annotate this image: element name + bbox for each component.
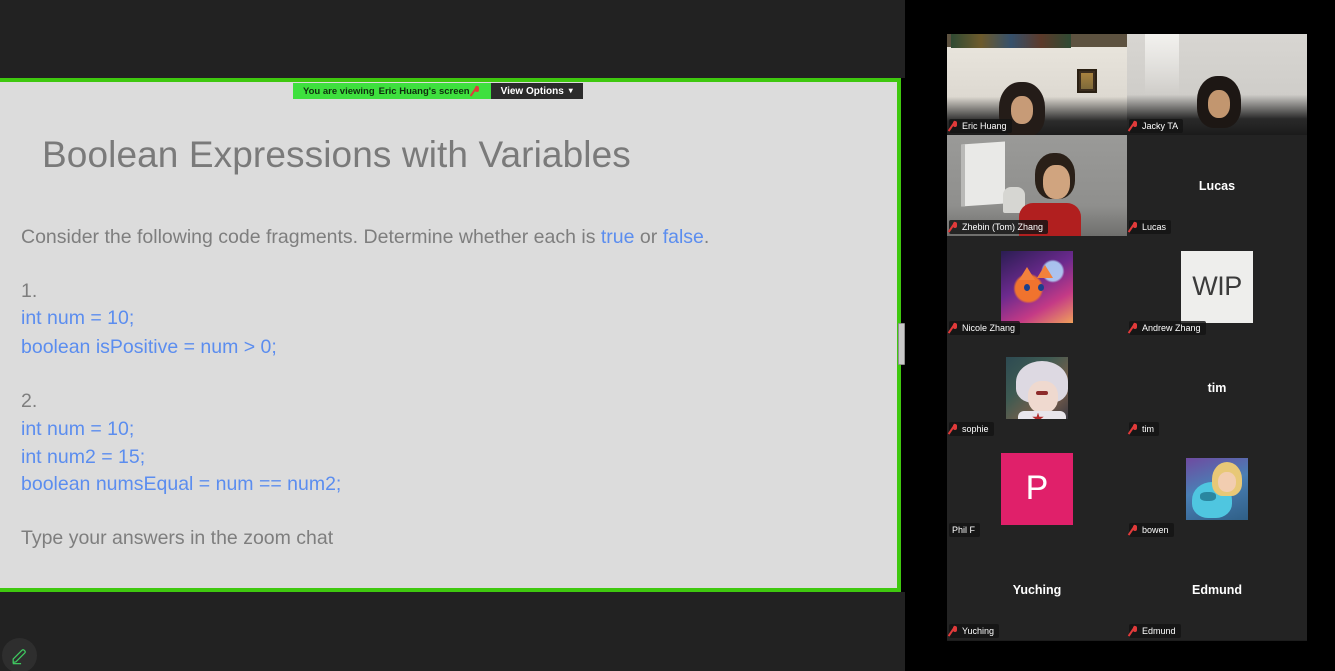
participant-name-badge: sophie xyxy=(949,422,994,436)
anime-avatar-image xyxy=(1006,357,1068,419)
shared-screen-region: Boolean Expressions with Variables Consi… xyxy=(0,0,905,671)
participant-tile[interactable]: PPhil F xyxy=(947,438,1127,539)
participants-gallery: Eric HuangJacky TAZhebin (Tom) ZhangLuca… xyxy=(947,34,1307,641)
slide-false-keyword: false xyxy=(663,226,704,248)
annotate-button[interactable] xyxy=(2,638,37,671)
participant-name-label: Nicole Zhang xyxy=(962,323,1015,333)
mic-muted-icon xyxy=(952,121,959,131)
participant-tile[interactable]: sophie xyxy=(947,337,1127,438)
mic-muted-icon xyxy=(952,626,959,636)
cat-avatar-image xyxy=(1001,251,1073,323)
share-letterbox-top xyxy=(0,0,905,78)
participant-name-badge: bowen xyxy=(1129,523,1174,537)
slide-intro-period: . xyxy=(704,226,709,248)
participant-name-label: Phil F xyxy=(952,525,975,535)
participant-name-badge: Phil F xyxy=(949,523,980,537)
participant-name-label: Eric Huang xyxy=(962,121,1007,131)
mic-muted-icon xyxy=(1132,323,1139,333)
presentation-slide: Boolean Expressions with Variables Consi… xyxy=(0,82,897,588)
presenter-name-label: Eric Huang's screen xyxy=(379,86,470,97)
mic-muted-icon xyxy=(1132,222,1139,232)
screen-share-banner: You are viewing Eric Huang's screen View… xyxy=(293,83,583,99)
game-avatar-image xyxy=(1186,458,1248,520)
mic-muted-icon xyxy=(952,222,959,232)
participant-tile[interactable]: LucasLucas xyxy=(1127,135,1307,236)
participant-name-label: Lucas xyxy=(1142,222,1166,232)
participant-tile[interactable]: bowen xyxy=(1127,438,1307,539)
participant-name-badge: tim xyxy=(1129,422,1159,436)
view-options-button[interactable]: View Options ▾ xyxy=(491,83,583,99)
participant-name-badge: Andrew Zhang xyxy=(1129,321,1206,335)
participant-tile[interactable]: YuchingYuching xyxy=(947,539,1127,640)
participant-name-badge: Lucas xyxy=(1129,220,1171,234)
mic-muted-icon xyxy=(1132,424,1139,434)
slide-true-keyword: true xyxy=(601,226,635,248)
slide-intro-line: Consider the following code fragments. D… xyxy=(21,226,709,249)
participant-name-badge: Nicole Zhang xyxy=(949,321,1020,335)
slide-or-text: or xyxy=(635,226,663,248)
mic-muted-icon xyxy=(1132,525,1139,535)
participant-name-label: tim xyxy=(1142,424,1154,434)
participant-name-label: Jacky TA xyxy=(1142,121,1178,131)
mic-muted-icon xyxy=(474,86,481,96)
participant-tile[interactable]: WIPAndrew Zhang xyxy=(1127,236,1307,337)
mic-muted-icon xyxy=(952,424,959,434)
mic-muted-icon xyxy=(1132,626,1139,636)
zoom-meeting-window: Boolean Expressions with Variables Consi… xyxy=(0,0,1335,671)
participant-tile[interactable]: EdmundEdmund xyxy=(1127,539,1307,640)
participant-tile[interactable]: timtim xyxy=(1127,337,1307,438)
participant-center-name: Edmund xyxy=(1127,583,1307,597)
slide-item-2-code-line-1: int num = 10; xyxy=(21,418,134,441)
participant-tile[interactable]: Eric Huang xyxy=(947,34,1127,135)
slide-item-1-code-line-1: int num = 10; xyxy=(21,307,134,330)
pencil-icon xyxy=(10,646,29,665)
slide-outro-line: Type your answers in the zoom chat xyxy=(21,527,333,550)
participant-center-name: Lucas xyxy=(1127,179,1307,193)
participant-name-badge: Jacky TA xyxy=(1129,119,1183,133)
participant-name-label: Andrew Zhang xyxy=(1142,323,1201,333)
mic-muted-icon xyxy=(1132,121,1139,131)
participant-name-label: sophie xyxy=(962,424,989,434)
participant-center-name: tim xyxy=(1127,381,1307,395)
participant-name-label: Zhebin (Tom) Zhang xyxy=(962,222,1043,232)
participant-avatar: WIP xyxy=(1181,251,1253,323)
share-letterbox-bottom xyxy=(0,592,905,671)
participant-name-label: Edmund xyxy=(1142,626,1176,636)
viewing-prefix-label: You are viewing xyxy=(303,86,375,97)
slide-intro-text: Consider the following code fragments. D… xyxy=(21,226,601,248)
participant-tile[interactable]: Zhebin (Tom) Zhang xyxy=(947,135,1127,236)
slide-item-1-code-line-2: boolean isPositive = num > 0; xyxy=(21,336,277,359)
wip-avatar-image: WIP xyxy=(1181,251,1253,323)
participant-avatar: P xyxy=(1001,453,1073,525)
chevron-down-icon: ▾ xyxy=(569,87,573,95)
participant-tile[interactable]: Nicole Zhang xyxy=(947,236,1127,337)
view-options-label: View Options xyxy=(501,86,564,97)
participant-name-badge: Yuching xyxy=(949,624,999,638)
letter-avatar-image: P xyxy=(1001,453,1073,525)
slide-item-2-code-line-2: int num2 = 15; xyxy=(21,446,145,469)
viewing-indicator: You are viewing Eric Huang's screen xyxy=(293,83,491,99)
slide-title: Boolean Expressions with Variables xyxy=(42,134,631,176)
participant-name-badge: Zhebin (Tom) Zhang xyxy=(949,220,1048,234)
participant-tile[interactable]: Jacky TA xyxy=(1127,34,1307,135)
participant-name-label: bowen xyxy=(1142,525,1169,535)
panel-splitter-handle[interactable] xyxy=(898,323,905,365)
participant-name-label: Yuching xyxy=(962,626,994,636)
participant-name-badge: Edmund xyxy=(1129,624,1181,638)
slide-item-2-code-line-3: boolean numsEqual = num == num2; xyxy=(21,473,341,496)
mic-muted-icon xyxy=(952,323,959,333)
participant-name-badge: Eric Huang xyxy=(949,119,1012,133)
shared-screen-frame: Boolean Expressions with Variables Consi… xyxy=(0,78,901,592)
participant-avatar xyxy=(1006,357,1068,419)
participant-center-name: Yuching xyxy=(947,583,1127,597)
participant-avatar xyxy=(1186,458,1248,520)
slide-item-1-number: 1. xyxy=(21,280,37,303)
participant-avatar xyxy=(1001,251,1073,323)
slide-item-2-number: 2. xyxy=(21,390,37,413)
